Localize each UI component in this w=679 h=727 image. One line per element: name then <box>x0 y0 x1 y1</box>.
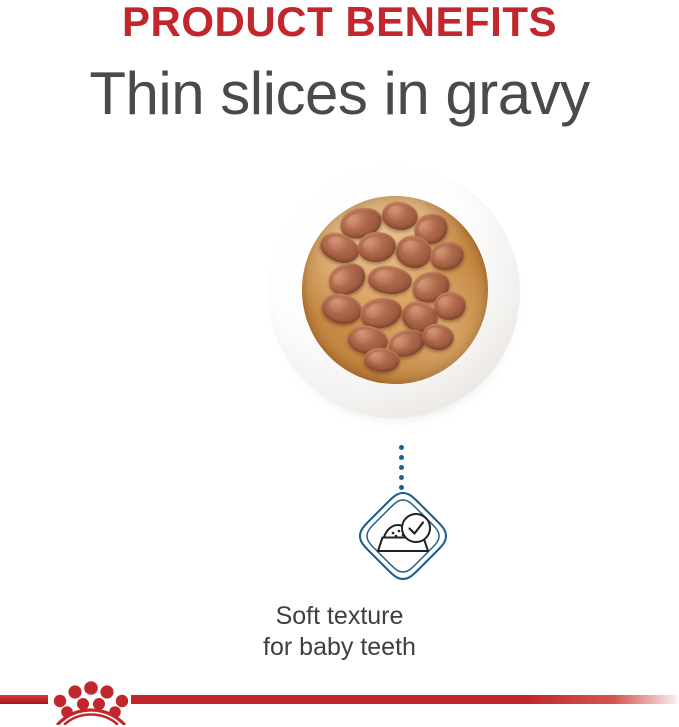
benefit-caption-line-1: Soft texture <box>0 601 679 632</box>
kibble-dot <box>398 530 401 533</box>
benefit-caption-line-2: for baby teeth <box>0 632 679 663</box>
benefit-badge <box>357 490 449 582</box>
connector-dot <box>399 445 404 450</box>
check-circle-glyph <box>402 514 430 542</box>
gravy-pool <box>302 196 488 384</box>
benefit-caption: Soft texture for baby teeth <box>0 601 679 663</box>
soft-texture-bowl-check-icon <box>357 490 449 582</box>
connector-dot <box>399 465 404 470</box>
connector-dot <box>399 475 404 480</box>
page-headline: Thin slices in gravy <box>0 58 679 130</box>
page-eyebrow-title: PRODUCT BENEFITS <box>0 0 679 44</box>
crown-arc-inner <box>65 715 117 725</box>
footer-rule-right <box>131 695 679 704</box>
product-benefits-panel: PRODUCT BENEFITS Thin slices in gravy <box>0 0 679 727</box>
footer-rule-left <box>0 695 48 704</box>
hero-food-bowl-image <box>268 166 520 418</box>
footer-brand-bar <box>0 675 679 727</box>
royal-canin-crown-logo <box>52 679 130 725</box>
connector-dot <box>399 455 404 460</box>
kibble-dot <box>395 535 398 538</box>
dotted-connector <box>399 445 408 491</box>
kibble-dot <box>392 532 395 535</box>
crown-dots <box>54 681 128 718</box>
